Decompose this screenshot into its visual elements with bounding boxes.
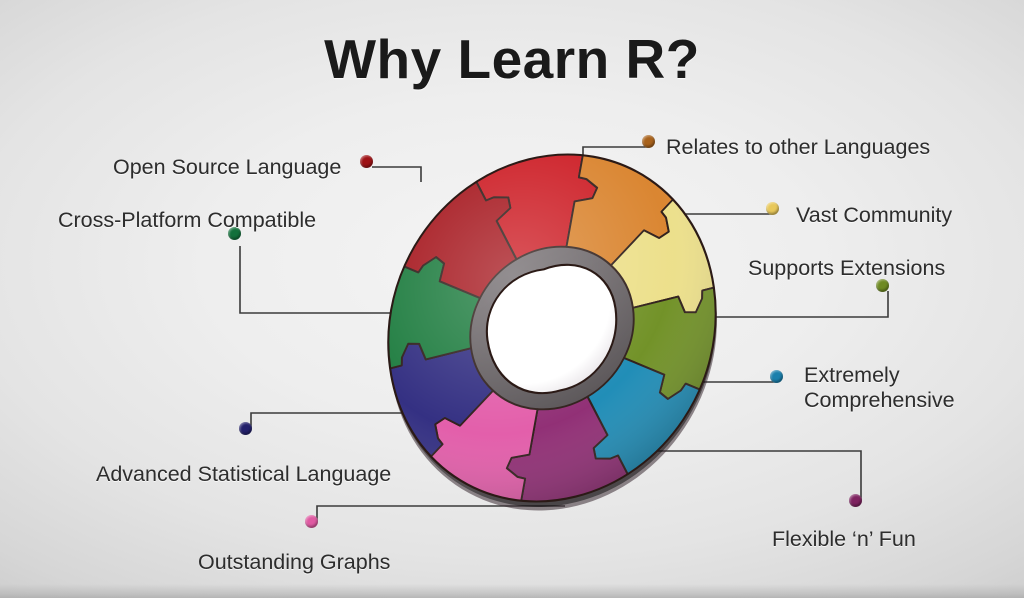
callout-dot-extremely-comprehensive[interactable] [770,370,783,383]
puzzle-wheel [338,98,766,558]
callout-dot-outstanding-graphs[interactable] [305,515,318,528]
callout-label-supports-extensions[interactable]: Supports Extensions [748,256,945,281]
page-title: Why Learn R? [0,27,1024,91]
callout-label-open-source-language[interactable]: Open Source Language [113,155,341,180]
callout-label-flexible-n-fun[interactable]: Flexible ‘n’ Fun [772,527,916,552]
infographic-canvas: Why Learn R? [0,0,1024,598]
callout-dot-flexible-n-fun[interactable] [849,494,862,507]
callout-label-vast-community[interactable]: Vast Community [796,203,952,228]
callout-dot-advanced-statistical-language[interactable] [239,422,252,435]
callout-label-advanced-statistical-language[interactable]: Advanced Statistical Language [96,462,391,487]
callout-dot-open-source-language[interactable] [360,155,373,168]
callout-label-outstanding-graphs[interactable]: Outstanding Graphs [198,550,390,575]
callout-dot-relates-to-other-languages[interactable] [642,135,655,148]
callout-label-relates-to-other-languages[interactable]: Relates to other Languages [666,135,930,160]
callout-label-extremely-comprehensive[interactable]: Extremely Comprehensive [804,363,955,413]
callout-label-cross-platform-compatible[interactable]: Cross-Platform Compatible [58,208,316,233]
callout-dot-vast-community[interactable] [766,202,779,215]
